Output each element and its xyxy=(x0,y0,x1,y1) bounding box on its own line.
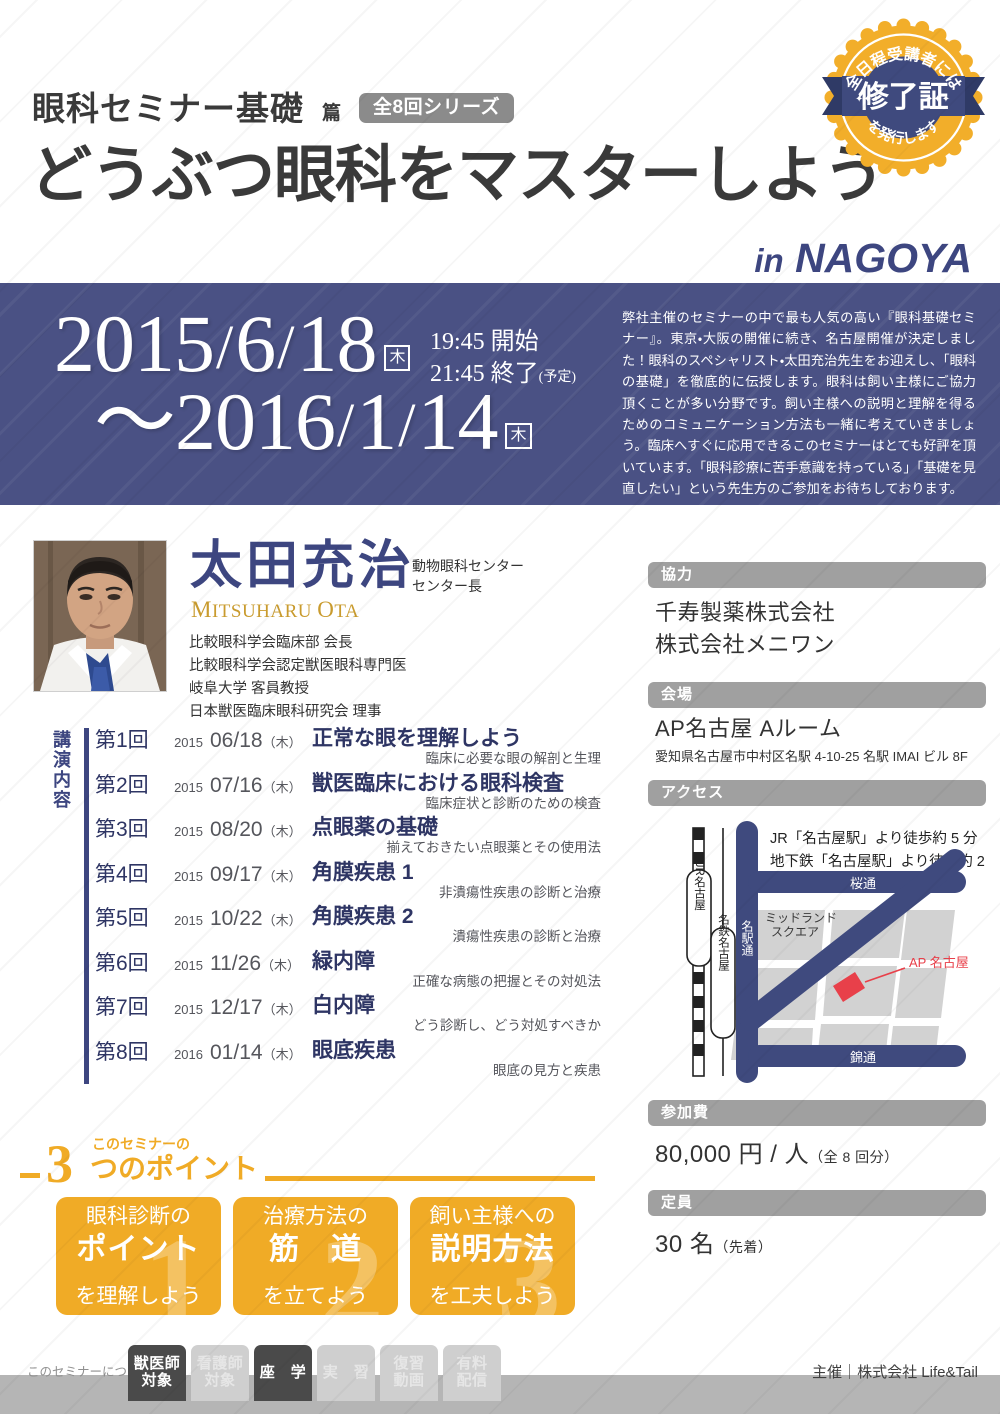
certificate-seal: 全日程受講者には を発行します ✦✦✦ ✦✦✦ 修了証 xyxy=(820,14,987,181)
point-card-line3: を立てよう xyxy=(233,1286,398,1307)
time-end-note: (予定) xyxy=(539,370,576,385)
session-title: 角膜疾患 1 xyxy=(312,862,605,884)
access-heading: アクセス xyxy=(648,780,986,806)
session-date: 08/20（木） xyxy=(203,817,308,840)
session-body: 角膜疾患 2 潰瘍性疾患の診断と治療 xyxy=(308,906,605,945)
session-number: 第7回 xyxy=(95,995,163,1018)
footer-tag-veterinarian: 獣医師 対象 xyxy=(128,1345,186,1401)
session-number: 第4回 xyxy=(95,862,163,885)
session-subtitle: 正確な病態の把握とその対処法 xyxy=(312,974,605,990)
svg-text:JR名古屋: JR名古屋 xyxy=(693,862,706,911)
venue-address: 愛知県名古屋市中村区名駅 4-10-25 名駅 IMAI ビル 8F xyxy=(655,746,990,765)
map-landmark-label: ミッドランドスクエア xyxy=(765,911,837,939)
start-dow-badge: 木 xyxy=(384,345,410,371)
organizer-label: 主催｜株式会社 Life&Tail xyxy=(812,1361,978,1382)
footer-tag-nurse: 看護師 対象 xyxy=(191,1345,249,1401)
intro-blurb: 弊社主催のセミナーの中で最も人気の高い『眼科基礎セミナー』。東京・大阪の開催に続… xyxy=(618,300,978,490)
kicker-sub-text: 篇 xyxy=(322,104,341,123)
session-date: 09/17（木） xyxy=(203,862,308,885)
session-md: 01/14 xyxy=(210,1041,263,1064)
session-date: 11/26（木） xyxy=(203,951,308,974)
session-row: 第5回 2015 10/22（木） 角膜疾患 2 潰瘍性疾患の診断と治療 xyxy=(95,906,605,951)
footer-tag-line1: 看護師 xyxy=(197,1356,244,1373)
credential-item: 日本獣医臨床眼科研究会 理事 xyxy=(189,701,407,724)
end-month: 1 xyxy=(356,379,396,465)
time-start: 19:45 開始 xyxy=(430,326,576,358)
speaker-role-line2: センター長 xyxy=(412,576,524,596)
venue-heading: 会場 xyxy=(648,682,986,708)
points-dash-right xyxy=(265,1176,595,1181)
session-number: 第3回 xyxy=(95,817,163,840)
session-body: 正常な眼を理解しよう 臨床に必要な眼の解剖と生理 xyxy=(308,728,605,767)
session-title: 角膜疾患 2 xyxy=(312,906,605,928)
session-body: 角膜疾患 1 非潰瘍性疾患の診断と治療 xyxy=(308,862,605,901)
footer-tag-line2: 動画 xyxy=(393,1373,424,1390)
session-subtitle: 臨床症状と診断のための検査 xyxy=(312,796,605,812)
session-row: 第2回 2015 07/16（木） 獣医臨床における眼科検査 臨床症状と診断のた… xyxy=(95,773,605,818)
session-title: 緑内障 xyxy=(312,951,605,973)
sessions-list: 第1回 2015 06/18（木） 正常な眼を理解しよう 臨床に必要な眼の解剖と… xyxy=(95,728,605,1084)
footer-tag-line2: 配信 xyxy=(456,1373,487,1390)
romaji-last-rest: TA xyxy=(334,601,359,622)
point-card: 3 飼い主様への 説明方法 を工夫しよう xyxy=(410,1197,575,1315)
session-title: 獣医臨床における眼科検査 xyxy=(312,773,605,795)
coop-body: 千寿製薬株式会社 株式会社メニワン xyxy=(655,597,990,661)
svg-text:名鉄名古屋: 名鉄名古屋 xyxy=(717,912,730,971)
end-day: 14 xyxy=(417,379,497,465)
speaker-photo xyxy=(33,540,167,692)
points-heading: 3 このセミナーの つのポイント xyxy=(20,1133,595,1193)
time-end: 21:45 終了 xyxy=(430,361,539,387)
romaji-first-initial: M xyxy=(191,597,212,622)
kicker-row: 眼科セミナー基礎 篇 全8回シリーズ xyxy=(32,92,514,125)
session-md: 09/17 xyxy=(210,863,263,886)
map-jr-rail: JR名古屋 xyxy=(687,828,711,1076)
session-year: 2015 xyxy=(163,906,203,927)
points-big-label: つのポイント xyxy=(90,1155,258,1183)
session-subtitle: 非潰瘍性疾患の診断と治療 xyxy=(312,885,605,901)
footer-tag-paid-stream: 有料 配信 xyxy=(443,1345,501,1401)
sessions-rule xyxy=(84,728,89,1084)
map-venue-label: AP 名古屋 xyxy=(909,955,969,970)
point-card-line1: 飼い主様への xyxy=(410,1206,575,1227)
capacity-value: 30 名 xyxy=(655,1231,714,1258)
session-md: 12/17 xyxy=(210,996,263,1019)
footer-tag-line1: 有料 xyxy=(456,1356,487,1373)
end-dow-badge: 木 xyxy=(505,423,531,449)
session-row: 第6回 2015 11/26（木） 緑内障 正確な病態の把握とその対処法 xyxy=(95,951,605,996)
session-year: 2015 xyxy=(163,862,203,883)
session-row: 第7回 2015 12/17（木） 白内障 どう診断し、どう対処すべきか xyxy=(95,995,605,1040)
city-label: in NAGOYA xyxy=(754,235,972,282)
session-year: 2015 xyxy=(163,773,203,794)
kicker-main-text: 眼科セミナー基礎 xyxy=(32,92,304,125)
session-dow: （木） xyxy=(263,735,302,750)
credential-item: 比較眼科学会臨床部 会長 xyxy=(189,632,407,655)
fee-body: 80,000 円 / 人（全 8 回分） xyxy=(655,1134,990,1169)
speaker-name: 太田充治 xyxy=(190,540,414,592)
fee-heading: 参加費 xyxy=(648,1100,986,1126)
point-card-line2: 筋 道 xyxy=(233,1235,398,1265)
session-title: 正常な眼を理解しよう xyxy=(312,728,605,750)
session-number: 第8回 xyxy=(95,1040,163,1063)
session-date: 06/18（木） xyxy=(203,728,308,751)
venue-name: AP名古屋 Aルーム xyxy=(655,716,990,742)
footer-tag-group: 獣医師 対象 看護師 対象 座 学 実 習 復習 動画 有料 配信 xyxy=(128,1345,501,1401)
footer-tag-review-video: 復習 動画 xyxy=(380,1345,438,1401)
session-title: 眼底疾患 xyxy=(312,1040,605,1062)
session-row: 第3回 2015 08/20（木） 点眼薬の基礎 揃えておきたい点眼薬とその使用… xyxy=(95,817,605,862)
date-slash-3: / xyxy=(335,395,356,465)
time-block: 19:45 開始 21:45 終了(予定) xyxy=(430,326,576,391)
session-dow: （木） xyxy=(263,780,302,795)
series-badge: 全8回シリーズ xyxy=(359,93,514,123)
footer-tag-line2: 対象 xyxy=(141,1373,172,1390)
capacity-note: （先着） xyxy=(714,1239,772,1255)
map-road-nishiki-label: 錦通 xyxy=(850,1050,876,1065)
session-title: 白内障 xyxy=(312,995,605,1017)
sessions-vertical-label: 講演内容 xyxy=(47,730,71,810)
session-year: 2015 xyxy=(163,951,203,972)
session-subtitle: 潰瘍性疾患の診断と治療 xyxy=(312,929,605,945)
capacity-heading: 定員 xyxy=(648,1190,986,1216)
session-number: 第2回 xyxy=(95,773,163,796)
point-card-line2: ポイント xyxy=(56,1235,221,1265)
footer-tag-line1: 復習 xyxy=(393,1356,424,1373)
time-end-row: 21:45 終了(予定) xyxy=(430,358,576,390)
session-md: 08/20 xyxy=(210,818,263,841)
footer-tag-line1: 座 学 xyxy=(260,1365,307,1382)
coop-heading: 協力 xyxy=(648,562,986,588)
point-card-line3: を理解しよう xyxy=(56,1286,221,1307)
session-date: 01/14（木） xyxy=(203,1040,308,1063)
footer-tag-line2: 対象 xyxy=(204,1373,235,1390)
start-month: 6 xyxy=(235,301,275,387)
session-md: 06/18 xyxy=(210,729,263,752)
session-title: 点眼薬の基礎 xyxy=(312,817,605,839)
footer-tag-line1: 獣医師 xyxy=(134,1356,181,1373)
date-end-row: 〜 2016 / 1 / 14 木 xyxy=(94,379,532,465)
point-card-line2: 説明方法 xyxy=(410,1235,575,1265)
session-md: 11/26 xyxy=(210,952,261,975)
session-year: 2015 xyxy=(163,817,203,838)
point-card-line3: を工夫しよう xyxy=(410,1286,575,1307)
credential-item: 岐阜大学 客員教授 xyxy=(189,678,407,701)
point-card: 2 治療方法の 筋 道 を立てよう xyxy=(233,1197,398,1315)
session-md: 10/22 xyxy=(210,907,263,930)
session-year: 2015 xyxy=(163,728,203,749)
session-dow: （木） xyxy=(263,869,302,884)
coop-company-1: 千寿製薬株式会社 xyxy=(655,597,990,629)
credential-item: 比較眼科学会認定獣医眼科専門医 xyxy=(189,655,407,678)
end-year: 2016 xyxy=(175,379,335,465)
date-slash-4: / xyxy=(396,395,417,465)
session-body: 点眼薬の基礎 揃えておきたい点眼薬とその使用法 xyxy=(308,817,605,856)
speaker-credentials: 比較眼科学会臨床部 会長 比較眼科学会認定獣医眼科専門医 岐阜大学 客員教授 日… xyxy=(189,632,407,724)
session-body: 獣医臨床における眼科検査 臨床症状と診断のための検査 xyxy=(308,773,605,812)
city-name: NAGOYA xyxy=(795,235,972,281)
fee-note: （全 8 回分） xyxy=(809,1149,899,1165)
session-body: 緑内障 正確な病態の把握とその対処法 xyxy=(308,951,605,990)
session-row: 第8回 2016 01/14（木） 眼底疾患 眼底の見方と疾患 xyxy=(95,1040,605,1085)
session-date: 12/17（木） xyxy=(203,995,308,1018)
session-dow: （木） xyxy=(263,824,302,839)
speaker-role: 動物眼科センター センター長 xyxy=(412,556,524,597)
session-year: 2015 xyxy=(163,995,203,1016)
points-dash-left xyxy=(20,1173,40,1178)
map-meitetsu-rail: 名鉄名古屋 xyxy=(711,828,735,1076)
session-date: 07/16（木） xyxy=(203,773,308,796)
city-prefix: in xyxy=(754,242,783,279)
session-number: 第5回 xyxy=(95,906,163,929)
footer-tag-practical: 実 習 xyxy=(317,1345,375,1401)
session-date: 10/22（木） xyxy=(203,906,308,929)
session-row: 第1回 2015 06/18（木） 正常な眼を理解しよう 臨床に必要な眼の解剖と… xyxy=(95,728,605,773)
session-subtitle: 眼底の見方と疾患 xyxy=(312,1063,605,1079)
fee-value: 80,000 円 / 人 xyxy=(655,1141,809,1168)
footer-tag-line1: 実 習 xyxy=(323,1365,370,1382)
session-subtitle: 揃えておきたい点眼薬とその使用法 xyxy=(312,840,605,856)
session-body: 白内障 どう診断し、どう対処すべきか xyxy=(308,995,605,1034)
romaji-first-rest: ITSUHARU xyxy=(212,601,312,622)
access-map: JR名古屋 名鉄名古屋 名駅通 桜通 錦通 ミッドランドスクエア AP 名古屋 xyxy=(655,810,985,1090)
points-cards: 1 眼科診断の ポイント を理解しよう 2 治療方法の 筋 道 を立てよう 3 … xyxy=(56,1197,575,1315)
capacity-body: 30 名（先着） xyxy=(655,1224,990,1259)
session-number: 第6回 xyxy=(95,951,163,974)
points-small-label: このセミナーの xyxy=(92,1137,190,1151)
session-dow: （木） xyxy=(263,913,302,928)
venue-body: AP名古屋 Aルーム 愛知県名古屋市中村区名駅 4-10-25 名駅 IMAI … xyxy=(655,716,990,765)
session-subtitle: どう診断し、どう対処すべきか xyxy=(312,1018,605,1034)
session-year: 2016 xyxy=(163,1040,203,1061)
points-number: 3 xyxy=(46,1137,73,1191)
session-dow: （木） xyxy=(261,958,300,973)
point-card-line1: 眼科診断の xyxy=(56,1206,221,1227)
map-road-meieki-label: 名駅通 xyxy=(740,919,754,957)
session-row: 第4回 2015 09/17（木） 角膜疾患 1 非潰瘍性疾患の診断と治療 xyxy=(95,862,605,907)
romaji-last-initial: O xyxy=(317,597,334,622)
session-dow: （木） xyxy=(263,1002,302,1017)
session-body: 眼底疾患 眼底の見方と疾患 xyxy=(308,1040,605,1079)
start-year: 2015 xyxy=(54,301,214,387)
point-card: 1 眼科診断の ポイント を理解しよう xyxy=(56,1197,221,1315)
session-number: 第1回 xyxy=(95,728,163,751)
date-tilde: 〜 xyxy=(94,379,175,465)
start-day: 18 xyxy=(296,301,376,387)
coop-company-2: 株式会社メニワン xyxy=(655,629,990,661)
page-title: どうぶつ眼科をマスターしよう xyxy=(30,145,884,207)
speaker-romaji: MITSUHARU OTA xyxy=(191,597,359,623)
seal-center-text: 修了証 xyxy=(858,81,949,114)
session-md: 07/16 xyxy=(210,774,263,797)
speaker-role-line1: 動物眼科センター xyxy=(412,556,524,576)
session-dow: （木） xyxy=(263,1047,302,1062)
session-subtitle: 臨床に必要な眼の解剖と生理 xyxy=(312,751,605,767)
footer-tag-lecture: 座 学 xyxy=(254,1345,312,1401)
map-road-sakura-label: 桜通 xyxy=(850,876,876,891)
point-card-line1: 治療方法の xyxy=(233,1206,398,1227)
